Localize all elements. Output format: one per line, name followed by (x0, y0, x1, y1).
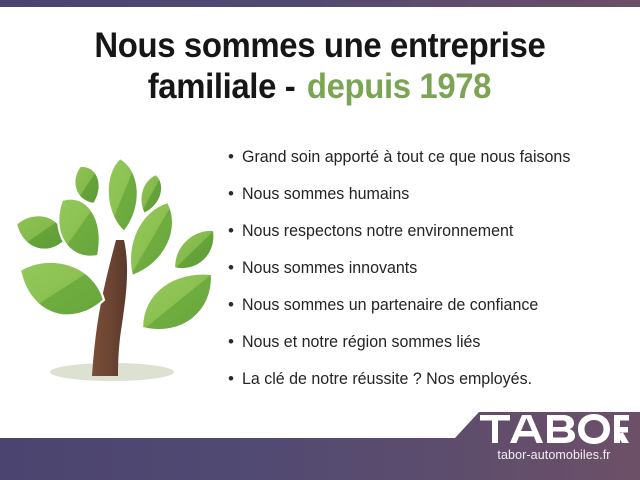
list-item: • Nous sommes humains (228, 183, 632, 220)
tree-trunk (92, 240, 127, 376)
bullet-marker-icon: • (228, 331, 242, 353)
leaf (20, 262, 104, 316)
brand-tagline: tabor-automobiles.fr (474, 448, 634, 462)
list-item-label: La clé de notre réussite ? Nos employés. (242, 368, 532, 390)
top-accent-strip (0, 0, 640, 7)
list-item: • Nous sommes un partenaire de confiance (228, 294, 632, 331)
leaf (58, 199, 100, 257)
title-line-1: Nous sommes une entreprise (0, 26, 640, 67)
benefits-list: • Grand soin apporté à tout ce que nous … (228, 146, 632, 405)
title-accent-year: depuis 1978 (306, 67, 490, 108)
leaf (142, 274, 212, 331)
bullet-marker-icon: • (228, 183, 242, 205)
bullet-marker-icon: • (228, 220, 242, 242)
tree-illustration (8, 152, 223, 390)
list-item: • Nous sommes innovants (228, 257, 632, 294)
list-item: • Nous et notre région sommes liés (228, 331, 632, 368)
bullet-marker-icon: • (228, 368, 242, 390)
page-title: Nous sommes une entreprise familiale - d… (0, 26, 640, 107)
bullet-marker-icon: • (228, 146, 242, 168)
tabor-wordmark-icon (478, 414, 630, 444)
title-line-1-text: Nous sommes une entreprise (95, 26, 546, 67)
leaf (130, 202, 173, 276)
list-item-label: Nous et notre région sommes liés (242, 331, 480, 353)
title-line-2-dark-text: familiale - (148, 67, 296, 108)
bullet-marker-icon: • (228, 257, 242, 279)
brand-logo[interactable]: tabor-automobiles.fr (474, 410, 634, 472)
leaf (108, 158, 138, 232)
leaf (174, 230, 214, 269)
bullet-marker-icon: • (228, 294, 242, 316)
slide-canvas: Nous sommes une entreprise familiale - d… (0, 0, 640, 480)
title-line-2: familiale - depuis 1978 (0, 67, 640, 108)
list-item: • Grand soin apporté à tout ce que nous … (228, 146, 632, 183)
leaf (74, 166, 99, 204)
list-item-label: Nous sommes humains (242, 183, 409, 205)
list-item-label: Grand soin apporté à tout ce que nous fa… (242, 146, 570, 168)
list-item: • Nous respectons notre environnement (228, 220, 632, 257)
list-item-label: Nous sommes innovants (242, 257, 417, 279)
list-item-label: Nous respectons notre environnement (242, 220, 513, 242)
list-item-label: Nous sommes un partenaire de confiance (242, 294, 538, 316)
